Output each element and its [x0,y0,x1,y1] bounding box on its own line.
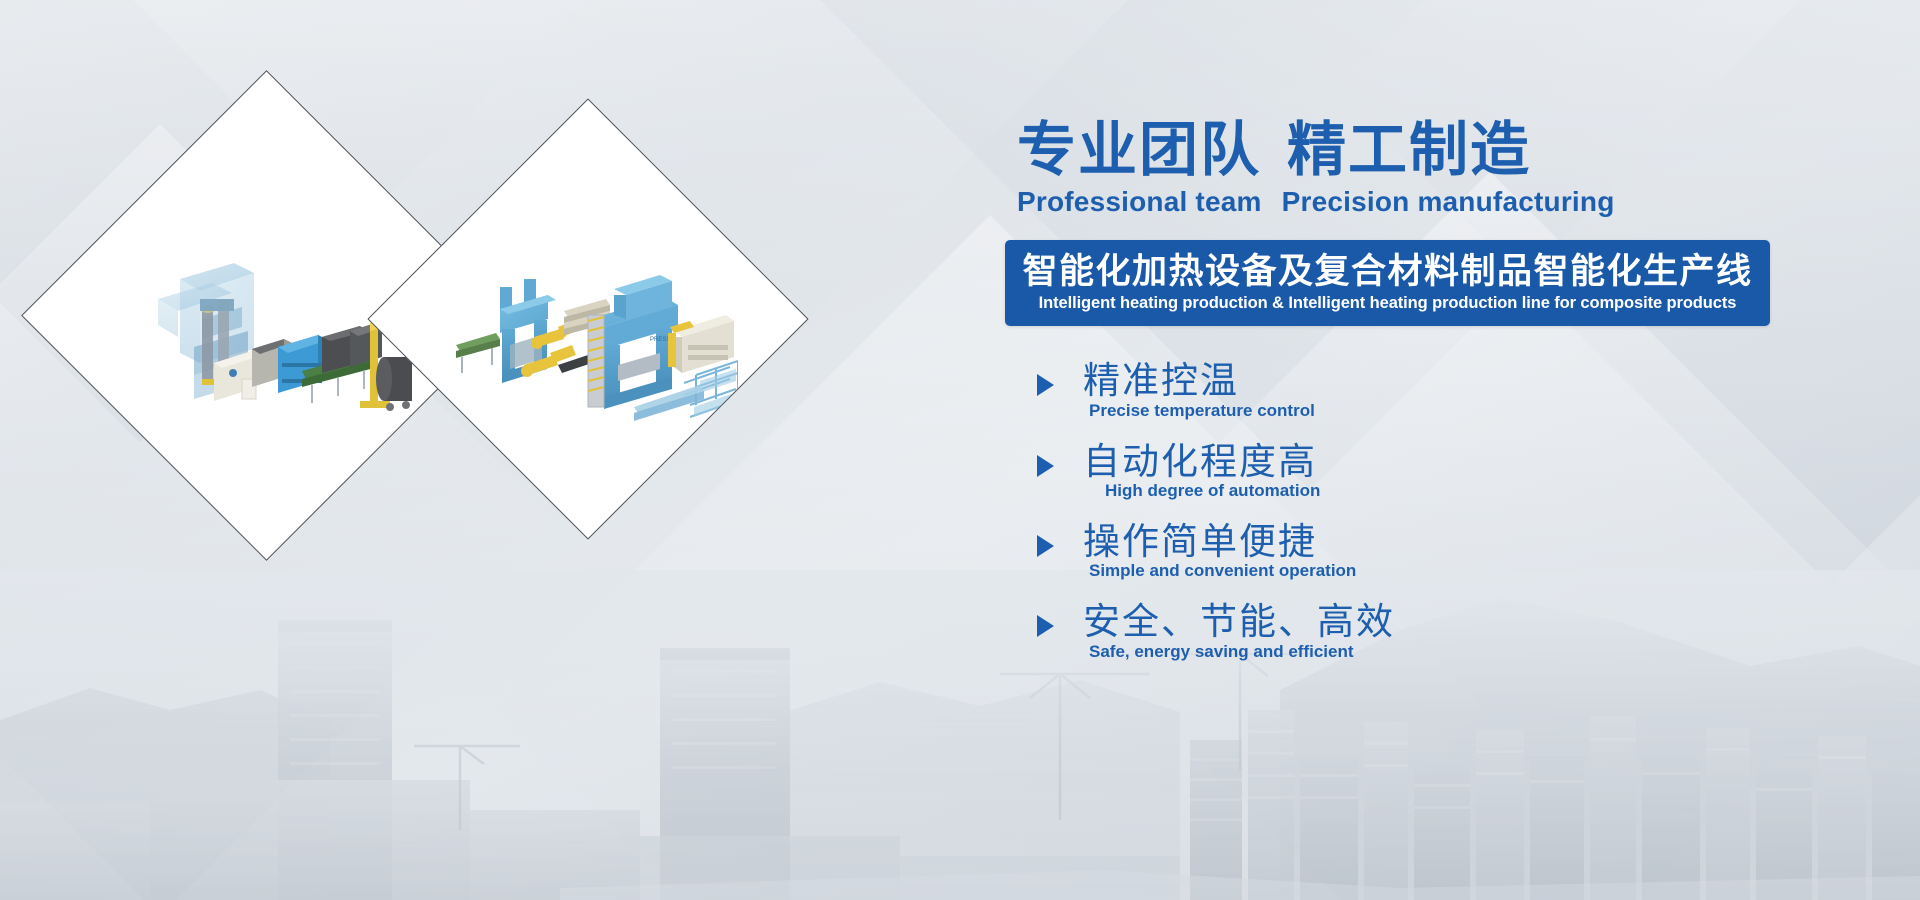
feature-item: 精准控温 Precise temperature control [1025,360,1805,420]
headline-en-part1: Professional team [1017,186,1262,217]
feature-list: 精准控温 Precise temperature control 自动化程度高 … [1025,360,1805,662]
headline-en-part2: Precision manufacturing [1282,186,1615,217]
feature-item: 安全、节能、高效 Safe, energy saving and efficie… [1025,601,1805,661]
headline-cn-part1: 专业团队 [1017,117,1261,183]
svg-text:PRESS: PRESS [650,337,670,343]
feature-label-en: Precise temperature control [1089,401,1805,421]
feature-label-cn: 安全、节能、高效 [1083,601,1805,642]
feature-item: 操作简单便捷 Simple and convenient operation [1025,521,1805,581]
feature-label-cn: 自动化程度高 [1083,441,1805,482]
blue-hydraulic-press-line-render: PRESS [438,169,738,469]
feature-label-en: High degree of automation [1105,481,1805,501]
triangle-right-icon [1037,455,1054,477]
triangle-right-icon [1037,615,1054,637]
promotional-banner: PRESS [0,0,1920,900]
feature-label-cn: 精准控温 [1083,360,1805,401]
feature-label-cn: 操作简单便捷 [1083,521,1805,562]
product-name-en: Intelligent heating production & Intelli… [1005,294,1770,313]
product-name-cn: 智能化加热设备及复合材料制品智能化生产线 [1005,252,1770,291]
feature-label-en: Safe, energy saving and efficient [1089,642,1805,662]
page-subtitle: Professional teamPrecision manufacturing [1017,186,1805,218]
feature-label-en: Simple and convenient operation [1089,561,1805,581]
triangle-right-icon [1037,374,1054,396]
banner-content: 专业团队精工制造 Professional teamPrecision manu… [1005,120,1805,682]
product-image-diamond-2: PRESS [367,98,808,539]
product-name-banner: 智能化加热设备及复合材料制品智能化生产线 Intelligent heating… [1005,240,1770,326]
headline-cn-part2: 精工制造 [1287,117,1531,183]
feature-item: 自动化程度高 High degree of automation [1025,441,1805,501]
page-title: 专业团队精工制造 [1017,120,1805,182]
triangle-right-icon [1037,535,1054,557]
